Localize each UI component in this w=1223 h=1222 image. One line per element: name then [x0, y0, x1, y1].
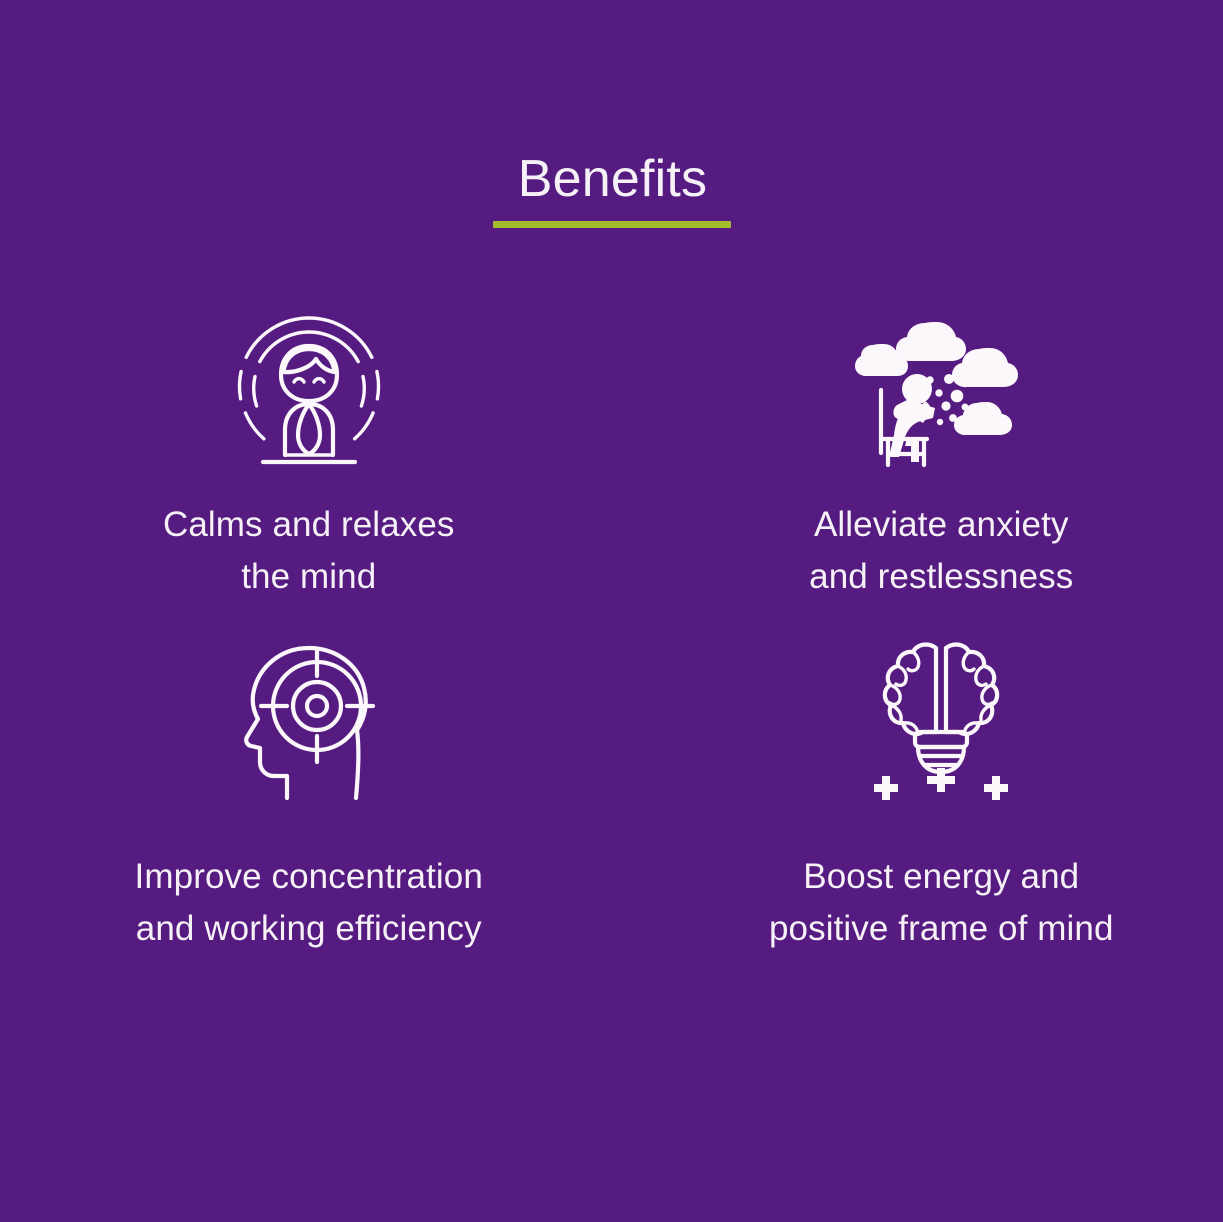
- benefits-grid: Calms and relaxes the mind: [0, 300, 1223, 980]
- brain-lightbulb-icon: [852, 630, 1030, 805]
- benefit-item-boost-energy-and-positive-frame-of-mind: Boost energy and positive frame of mind: [612, 630, 1223, 980]
- benefit-caption: Improve concentration and working effici…: [135, 851, 483, 955]
- benefit-item-alleviate-anxiety-and-restlessness: Alleviate anxiety and restlessness: [612, 300, 1223, 630]
- benefit-caption: Alleviate anxiety and restlessness: [809, 499, 1073, 603]
- title-underline-accent: [493, 221, 731, 228]
- benefits-page: Benefits: [0, 0, 1223, 1222]
- meditating-person-icon: [223, 300, 395, 475]
- head-with-target-icon: [225, 630, 393, 805]
- benefit-item-improve-concentration-and-working-efficiency: Improve concentration and working effici…: [0, 630, 612, 980]
- benefit-item-calms-and-relaxes-the-mind: Calms and relaxes the mind: [0, 300, 612, 630]
- page-title-block: Benefits: [0, 152, 1223, 228]
- benefit-caption: Calms and relaxes the mind: [163, 499, 455, 603]
- benefit-caption: Boost energy and positive frame of mind: [769, 851, 1114, 955]
- page-title: Benefits: [512, 152, 712, 207]
- anxious-person-thought-clouds-icon: [853, 300, 1029, 475]
